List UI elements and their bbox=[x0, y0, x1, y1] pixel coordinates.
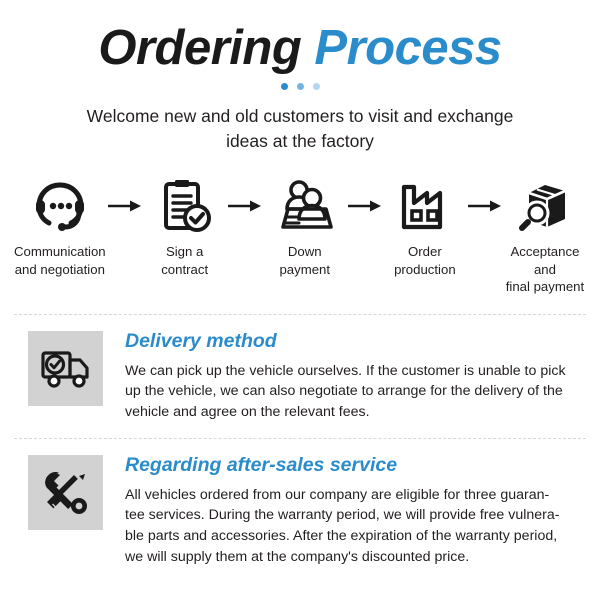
dot-3 bbox=[313, 83, 320, 90]
delivery-truck-check-icon bbox=[40, 348, 92, 390]
page-title-part2: Process bbox=[314, 21, 501, 75]
headset-icon bbox=[32, 175, 88, 237]
page-title-part1: Ordering bbox=[98, 21, 301, 75]
section-text-delivery: We can pick up the vehicle ourselves. If… bbox=[125, 361, 584, 423]
section-delivery-body: Delivery method We can pick up the vehic… bbox=[125, 331, 584, 422]
process-step-label: Acceptance and final payment bbox=[504, 243, 586, 296]
process-arrow-2 bbox=[226, 175, 264, 237]
process-step-communication: Communication and negotiation bbox=[14, 175, 106, 279]
title-dots-decoration bbox=[0, 83, 600, 90]
wrench-screwdriver-icon bbox=[41, 468, 91, 518]
box-magnifier-icon bbox=[517, 175, 573, 237]
process-step-label: Sign a contract bbox=[161, 243, 208, 279]
process-step-acceptance: Acceptance and final payment bbox=[504, 175, 586, 296]
process-step-order-production: Order production bbox=[384, 175, 466, 279]
ordering-process-page: Ordering Process Welcome new and old cus… bbox=[0, 0, 600, 600]
dot-1 bbox=[281, 83, 288, 90]
section-text-after-sales: All vehicles ordered from our company ar… bbox=[125, 485, 584, 567]
section-after-sales-service: Regarding after-sales service All vehicl… bbox=[0, 439, 600, 567]
process-step-label: Order production bbox=[394, 243, 456, 279]
section-after-sales-body: Regarding after-sales service All vehicl… bbox=[125, 455, 584, 567]
page-subtitle: Welcome new and old customers to visit a… bbox=[65, 104, 535, 155]
wrench-screwdriver-icon-box bbox=[28, 455, 103, 530]
process-arrow-3 bbox=[346, 175, 384, 237]
section-heading-after-sales: Regarding after-sales service bbox=[125, 455, 584, 476]
delivery-truck-check-icon-box bbox=[28, 331, 103, 406]
factory-icon bbox=[397, 175, 453, 237]
process-step-down-payment: Down payment bbox=[264, 175, 346, 279]
process-steps-row: Communication and negotiation bbox=[0, 175, 600, 296]
section-delivery-method: Delivery method We can pick up the vehic… bbox=[0, 315, 600, 422]
process-arrow-1 bbox=[106, 175, 144, 237]
section-heading-delivery: Delivery method bbox=[125, 331, 584, 352]
process-step-label: Communication and negotiation bbox=[14, 243, 106, 279]
process-step-label: Down payment bbox=[279, 243, 330, 279]
people-payment-icon bbox=[277, 175, 333, 237]
process-arrow-4 bbox=[466, 175, 504, 237]
process-step-sign-contract: Sign a contract bbox=[144, 175, 226, 279]
dot-2 bbox=[297, 83, 304, 90]
page-title: Ordering Process bbox=[0, 0, 600, 73]
clipboard-check-icon bbox=[157, 175, 213, 237]
